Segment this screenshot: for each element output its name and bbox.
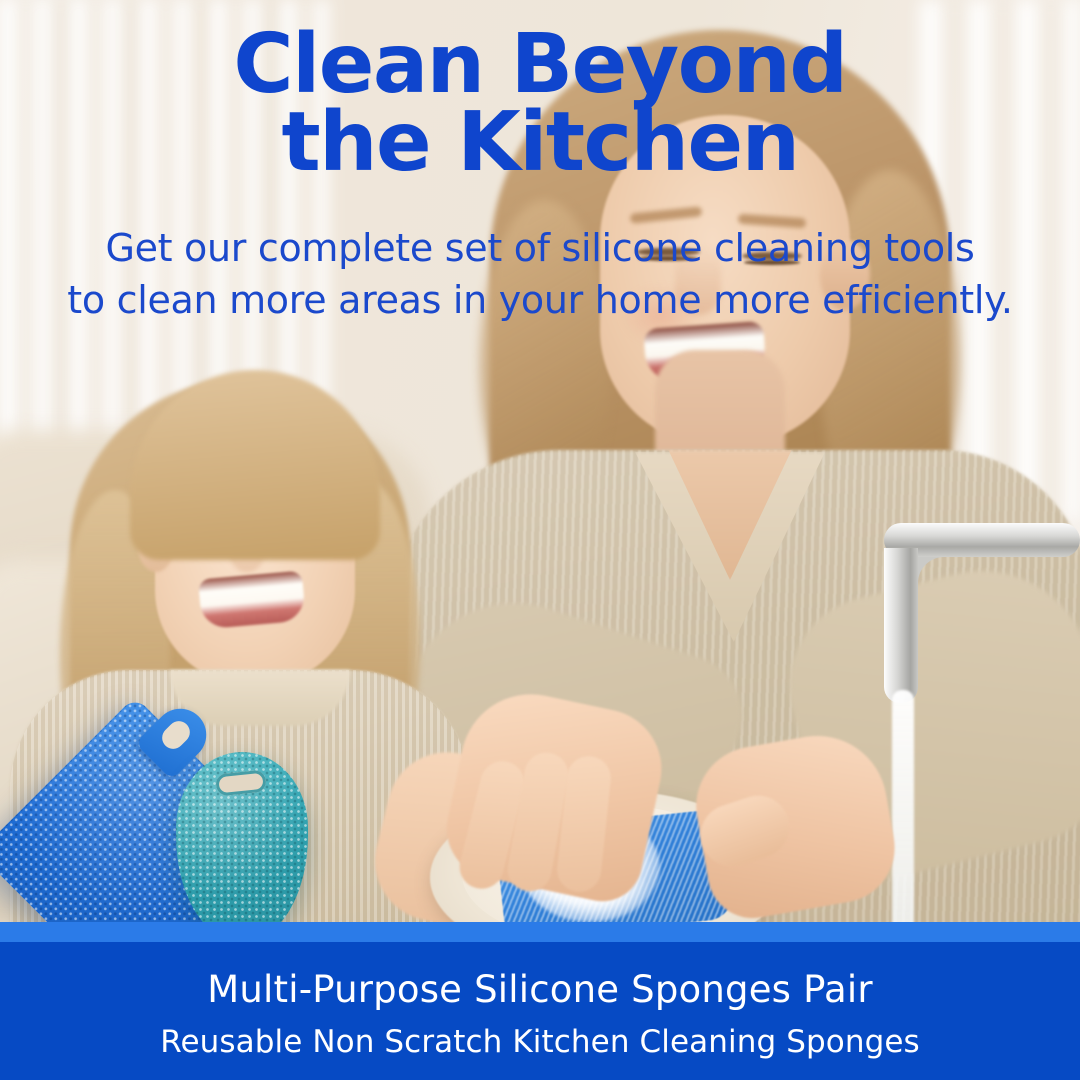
headline-line-2: the Kitchen [0, 104, 1080, 182]
subheadline-line-2: to clean more areas in your home more ef… [0, 274, 1080, 326]
faucet-neck [884, 548, 918, 703]
bottom-banner: Multi-Purpose Silicone Sponges Pair Reus… [0, 922, 1080, 1080]
running-water-stream [892, 690, 914, 935]
headline-line-1: Clean Beyond [0, 26, 1080, 104]
banner-title: Multi-Purpose Silicone Sponges Pair [0, 968, 1080, 1011]
subheadline-line-1: Get our complete set of silicone cleanin… [0, 222, 1080, 274]
subheadline: Get our complete set of silicone cleanin… [0, 222, 1080, 327]
headline: Clean Beyond the Kitchen [0, 26, 1080, 182]
banner-subtitle: Reusable Non Scratch Kitchen Cleaning Sp… [0, 1024, 1080, 1060]
banner-accent-strip [0, 922, 1080, 942]
product-listing-image: Clean Beyond the Kitchen Get our complet… [0, 0, 1080, 1080]
